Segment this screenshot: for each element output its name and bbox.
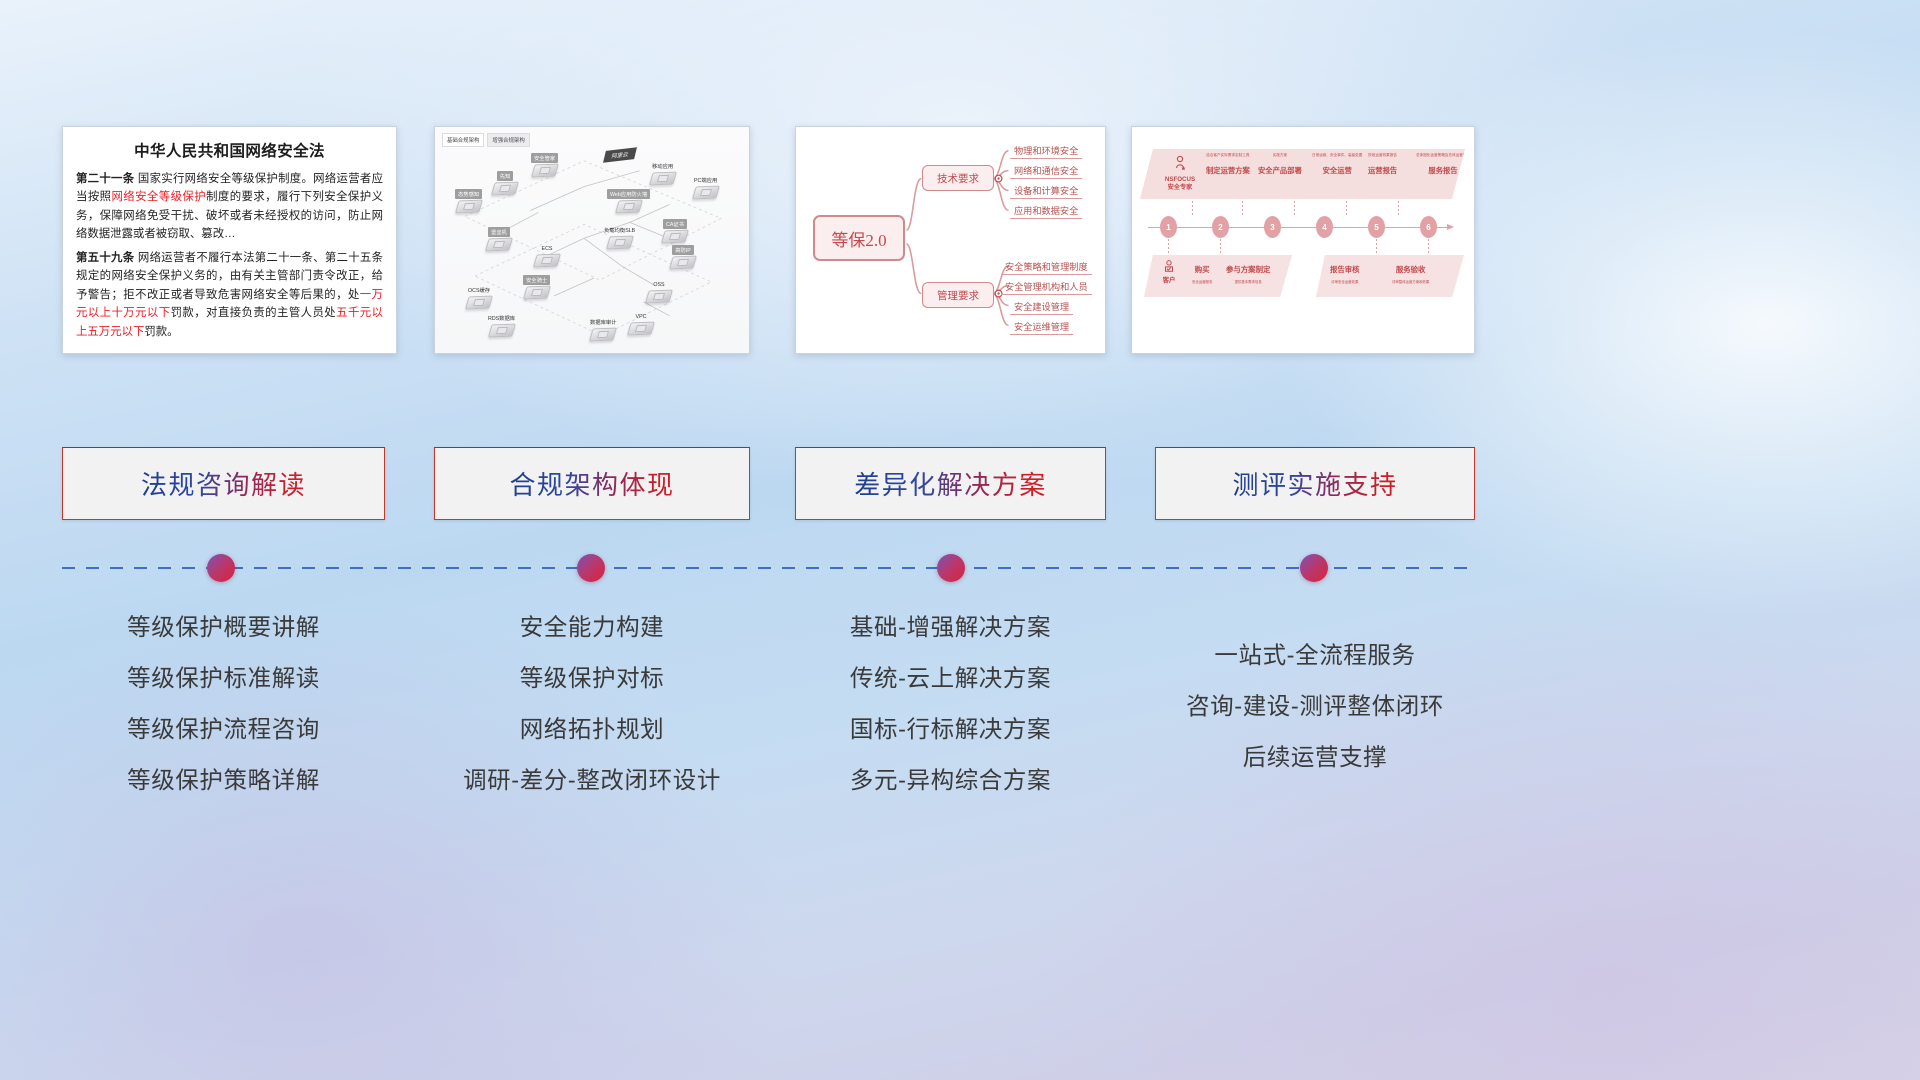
list-item: 后续运营支撑 [1155,732,1475,783]
architecture-diagram: 基础合规架构 增强合规架构 [435,127,749,353]
connector-line [1398,201,1399,217]
expert-step-title: 服务报告 [1416,166,1470,176]
expert-role-name: NSFOCUS [1160,176,1200,184]
law-title: 中华人民共和国网络安全法 [76,139,383,161]
connector-line [1220,239,1221,257]
article-59-part3: 罚款。 [144,326,178,338]
expert-step-sub: 结合客户实际需求定制工具 [1206,153,1250,158]
node-ecs[interactable]: ECS [535,245,559,267]
detail-list-3: 基础-增强解决方案 传统-云上解决方案 国标-行标解决方案 多元-异构综合方案 [795,602,1106,806]
expert-step-5[interactable]: 总体固化运营策略及总体运营效果服务报告 [1416,153,1470,176]
detail-list-2: 安全能力构建 等级保护对标 网络拓扑规划 调研-差分-整改闭环设计 [434,602,750,806]
list-item: 调研-差分-整改闭环设计 [434,755,750,806]
expert-step-title: 运营报告 [1368,166,1397,176]
customer-lane-left: 客户 购买安全运营服务 参与方案制定提供基本需求信息 [1144,255,1292,297]
rail-node-1[interactable] [207,554,235,582]
nsfocus-process-diagram: NSFOCUS 安全专家 结合客户实际需求定制工具制定运营方案 实施方案安全产品… [1132,127,1474,353]
customer-step-sub: 安全运营服务 [1192,279,1212,284]
rail-node-2[interactable] [577,554,605,582]
node-pc-application[interactable]: PC端应用 [691,175,720,199]
node-rds-database[interactable]: RDS数据库 [485,313,518,337]
node-ocs-cache[interactable]: OCS缓存 [465,285,493,309]
node-label: VPC [633,313,650,321]
timeline-axis [1148,227,1448,228]
architecture-tabs: 基础合规架构 增强合规架构 [442,133,530,147]
rail-node-4[interactable] [1300,554,1328,582]
law-article-59: 第五十九条 网络运营者不履行本法第二十一条、第二十五条规定的网络安全保护义务的，… [76,249,383,341]
list-item: 网络拓扑规划 [434,704,750,755]
node-label: 移动应用 [649,161,676,171]
mindmap-leaf-network-communication[interactable]: 网络和通信安全 [1010,163,1082,179]
mindmap-leaf-physical-environment[interactable]: 物理和环境安全 [1010,143,1082,159]
expert-step-2[interactable]: 实施方案安全产品部署 [1258,153,1302,176]
customer-step-title: 服务验收 [1392,264,1429,275]
node-label: 先知 [497,171,514,181]
article-21-label: 第二十一条 [76,173,134,185]
customer-step-participate[interactable]: 参与方案制定提供基本需求信息 [1226,264,1270,284]
node-label: 安全骑士 [523,275,550,285]
section-title-box-3[interactable]: 差异化解决方案 [795,447,1106,520]
node-label: 负载均衡SLB [601,225,638,235]
expert-step-sub: 日常运维、安全事件、高级处置 [1312,153,1362,158]
rail-node-3[interactable] [937,554,965,582]
law-article-21: 第二十一条 国家实行网络安全等级保护制度。网络运营者应当按照网络安全等级保护制度… [76,170,383,244]
node-load-balancer-slb[interactable]: 负载均衡SLB [601,225,638,249]
section-title-text: 法规咨询解读 [141,465,306,502]
connector-line [1242,201,1243,217]
section-title-box-1[interactable]: 法规咨询解读 [62,447,385,520]
node-label: RDS数据库 [485,313,518,323]
node-xianzhi[interactable]: 先知 [493,171,517,195]
mindmap-diagram: 等保2.0 技术要求 管理要求 物理和环境安全 网络和通信安全 设备和计算安全 … [796,127,1105,353]
connector-line [1346,201,1347,217]
expert-step-title: 安全产品部署 [1258,166,1302,176]
node-vpc[interactable]: VPC [629,313,653,335]
slide-canvas: 中华人民共和国网络安全法 第二十一条 国家实行网络安全等级保护制度。网络运营者应… [0,0,1920,1080]
expert-step-title: 安全运营 [1312,166,1362,176]
mindmap-branch-technical[interactable]: 技术要求 [922,165,994,191]
node-database-audit[interactable]: 数据库审计 [587,317,620,341]
customer-step-title: 购买 [1192,264,1212,275]
image-card-row: 中华人民共和国网络安全法 第二十一条 国家实行网络安全等级保护制度。网络运营者应… [0,126,1920,358]
node-label: 安全管家 [531,153,558,163]
list-item: 等级保护对标 [434,653,750,704]
customer-step-purchase[interactable]: 购买安全运营服务 [1192,264,1212,284]
mindmap-leaf-org-personnel[interactable]: 安全管理机构和人员 [1001,279,1092,295]
node-label: 堡垒机 [488,227,510,237]
section-title-box-4[interactable]: 测评实施支持 [1155,447,1475,520]
connector-line [1376,239,1377,257]
list-item: 国标-行标解决方案 [795,704,1106,755]
expert-step-title: 制定运营方案 [1206,166,1250,176]
mindmap-branch-management[interactable]: 管理要求 [922,282,994,308]
article-21-highlight: 网络安全等级保护 [111,191,206,203]
article-59-part2: 罚款，对直接负责的主管人员处 [171,307,337,319]
list-item: 等级保护标准解读 [62,653,385,704]
expert-person-icon [1172,155,1188,171]
timeline-step-5[interactable]: 5 [1368,216,1385,238]
list-item: 多元-异构综合方案 [795,755,1106,806]
timeline-step-6[interactable]: 6 [1420,216,1437,238]
customer-step-sub: 评审安全运营效果 [1330,279,1360,284]
connector-line [1294,201,1295,217]
list-item: 传统-云上解决方案 [795,653,1106,704]
list-item: 等级保护流程咨询 [62,704,385,755]
node-label: Web应用防火墙 [607,189,650,199]
section-title-box-2[interactable]: 合规架构体现 [434,447,750,520]
customer-step-title: 参与方案制定 [1226,264,1270,275]
timeline-rail [62,567,1474,569]
expert-step-1[interactable]: 结合客户实际需求定制工具制定运营方案 [1206,153,1250,176]
mindmap-leaf-application-data[interactable]: 应用和数据安全 [1010,203,1082,219]
customer-role: 客户 [1153,259,1185,284]
expert-step-sub: 实施方案 [1258,153,1302,158]
node-label: 数据库审计 [587,317,620,327]
customer-step-acceptance[interactable]: 服务验收评审整体运营方案和效果 [1392,264,1429,284]
list-item: 等级保护概要讲解 [62,602,385,653]
timeline-step-1[interactable]: 1 [1160,216,1177,238]
customer-person-icon [1162,259,1176,273]
mindmap-root-node[interactable]: 等保2.0 [813,215,905,261]
list-item: 等级保护策略详解 [62,755,385,806]
section-title-text: 差异化解决方案 [854,465,1047,502]
node-anti-ddos-ip[interactable]: 高防IP [671,245,695,269]
tab-basic-architecture[interactable]: 基础合规架构 [442,133,484,147]
list-item: 安全能力构建 [434,602,750,653]
node-ca-certificate[interactable]: CA证书 [663,219,687,243]
connector-line [1168,239,1169,257]
law-text-body: 中华人民共和国网络安全法 第二十一条 国家实行网络安全等级保护制度。网络运营者应… [63,127,396,354]
expert-step-3[interactable]: 日常运维、安全事件、高级处置安全运营 [1312,153,1362,176]
node-oss[interactable]: OSS [647,281,671,303]
tab-enhanced-architecture[interactable]: 增强合规架构 [487,133,529,147]
expert-step-sub: 总体固化运营策略及总体运营效果 [1416,153,1470,158]
customer-lane-right: 报告审核评审安全运营效果 服务验收评审整体运营方案和效果 [1316,255,1464,297]
mindmap-leaf-policy-system[interactable]: 安全策略和管理制度 [1001,259,1092,275]
list-item: 咨询-建设-测评整体闭环 [1155,681,1475,732]
node-situational-awareness[interactable]: 态势感知 [455,189,482,213]
timeline-step-2[interactable]: 2 [1212,216,1229,238]
node-label: 态势感知 [455,189,482,199]
section-title-text: 测评实施支持 [1232,465,1397,502]
card-cybersecurity-law[interactable]: 中华人民共和国网络安全法 第二十一条 国家实行网络安全等级保护制度。网络运营者应… [62,126,397,354]
list-item: 一站式-全流程服务 [1155,630,1475,681]
mindmap-leaf-construction-mgmt[interactable]: 安全建设管理 [1010,299,1073,315]
mindmap-leaf-device-computing[interactable]: 设备和计算安全 [1010,183,1082,199]
node-bastion-host[interactable]: 堡垒机 [487,227,511,251]
connector-line [1428,239,1429,257]
list-item: 基础-增强解决方案 [795,602,1106,653]
node-label: PC端应用 [691,175,720,185]
card-nsfocus-timeline[interactable]: NSFOCUS 安全专家 结合客户实际需求定制工具制定运营方案 实施方案安全产品… [1131,126,1475,354]
node-label: CA证书 [663,219,687,229]
section-title-row: 法规咨询解读 合规架构体现 差异化解决方案 测评实施支持 [0,447,1920,522]
timeline-step-3[interactable]: 3 [1264,216,1281,238]
card-cloud-architecture[interactable]: 基础合规架构 增强合规架构 [434,126,750,354]
mindmap-leaf-operation-mgmt[interactable]: 安全运维管理 [1010,319,1073,335]
timeline-step-4[interactable]: 4 [1316,216,1333,238]
customer-step-sub: 提供基本需求信息 [1226,279,1270,284]
detail-list-4: 一站式-全流程服务 咨询-建设-测评整体闭环 后续运营支撑 [1155,630,1475,783]
node-security-butler[interactable]: 安全管家 [531,153,558,177]
node-mobile-application[interactable]: 移动应用 [649,161,676,185]
node-label: OCS缓存 [465,285,493,295]
customer-step-sub: 评审整体运营方案和效果 [1392,279,1429,284]
card-dengbao-mindmap[interactable]: 等保2.0 技术要求 管理要求 物理和环境安全 网络和通信安全 设备和计算安全 … [795,126,1106,354]
node-label: OSS [650,281,667,289]
detail-list-1: 等级保护概要讲解 等级保护标准解读 等级保护流程咨询 等级保护策略详解 [62,602,385,806]
node-label: ECS [539,245,556,253]
customer-step-report-review[interactable]: 报告审核评审安全运营效果 [1330,264,1360,284]
expert-role-subtitle: 安全专家 [1160,184,1200,192]
expert-step-4[interactable]: 阶段运营效果报告运营报告 [1368,153,1397,176]
customer-role-label: 客户 [1153,275,1185,284]
node-web-application-firewall[interactable]: Web应用防火墙 [607,189,650,213]
expert-step-sub: 阶段运营效果报告 [1368,153,1397,158]
expert-role: NSFOCUS 安全专家 [1160,155,1200,192]
connector-line [1192,201,1193,217]
node-security-knight[interactable]: 安全骑士 [523,275,550,299]
expert-lane-banner: NSFOCUS 安全专家 结合客户实际需求定制工具制定运营方案 实施方案安全产品… [1140,149,1465,199]
node-label: 高防IP [672,245,694,255]
customer-step-title: 报告审核 [1330,264,1360,275]
section-title-text: 合规架构体现 [509,465,674,502]
article-59-label: 第五十九条 [76,252,134,264]
